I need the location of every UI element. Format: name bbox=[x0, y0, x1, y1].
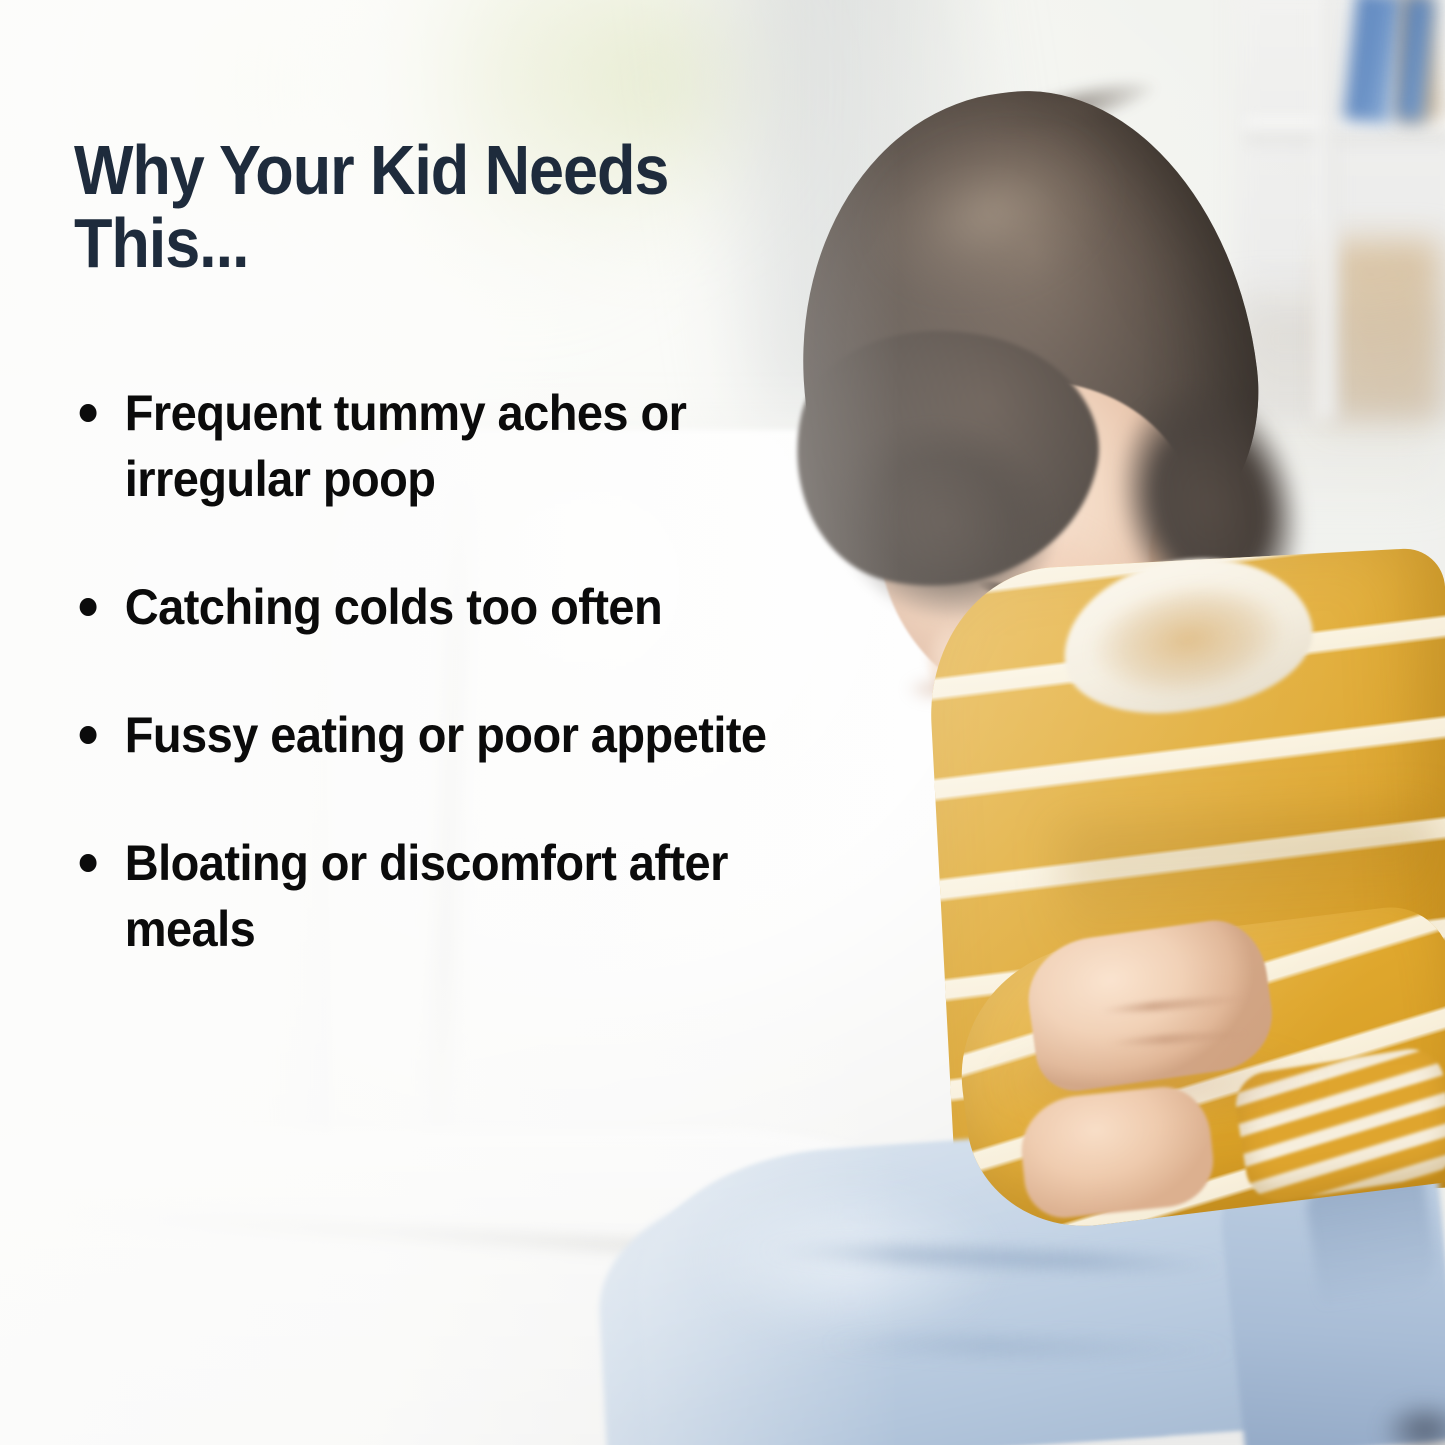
list-item-label: Fussy eating or poor appetite bbox=[125, 707, 767, 763]
copy-block: Why Your Kid Needs This... Frequent tumm… bbox=[0, 0, 1445, 1445]
bullet-dot-icon bbox=[80, 598, 97, 616]
benefit-list: Frequent tummy aches or irregular poop C… bbox=[74, 380, 914, 962]
list-item: Bloating or discomfort after meals bbox=[74, 830, 864, 962]
bullet-dot-icon bbox=[80, 404, 97, 422]
list-item: Fussy eating or poor appetite bbox=[74, 702, 864, 768]
bullet-dot-icon bbox=[80, 854, 97, 872]
page-title: Why Your Kid Needs This... bbox=[74, 134, 704, 280]
list-item: Frequent tummy aches or irregular poop bbox=[74, 380, 864, 512]
list-item: Catching colds too often bbox=[74, 574, 864, 640]
list-item-label: Frequent tummy aches or irregular poop bbox=[125, 385, 687, 507]
list-item-label: Catching colds too often bbox=[125, 579, 662, 635]
bullet-dot-icon bbox=[80, 726, 97, 744]
list-item-label: Bloating or discomfort after meals bbox=[125, 835, 728, 957]
promo-banner: Why Your Kid Needs This... Frequent tumm… bbox=[0, 0, 1445, 1445]
